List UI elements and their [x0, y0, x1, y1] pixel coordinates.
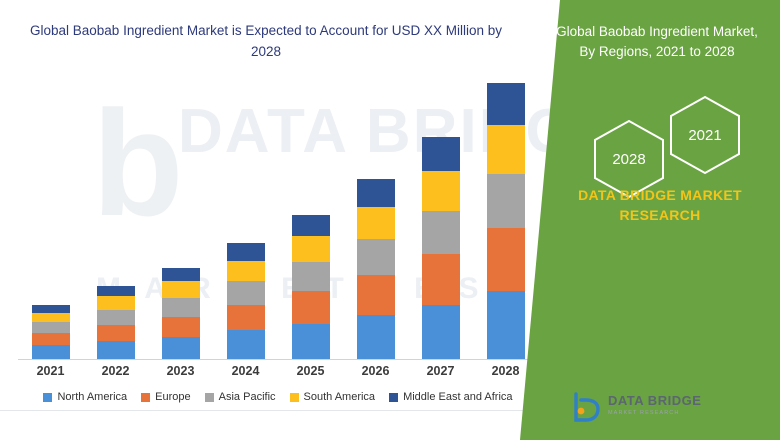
footer-logo: DATA BRIDGE MARKET RESEARCH [572, 392, 701, 422]
bar-segment [357, 315, 395, 359]
bar-column [148, 73, 213, 359]
hexagon-badges: 2021 2028 [575, 95, 765, 185]
bar-segment [32, 313, 70, 323]
bar-segment [227, 243, 265, 261]
stacked-bar [357, 179, 395, 359]
stacked-bar [487, 83, 525, 359]
hexagon-2021: 2021 [669, 95, 741, 175]
legend-item[interactable]: North America [43, 391, 127, 403]
bar-segment [97, 296, 135, 310]
legend-item[interactable]: Middle East and Africa [389, 391, 512, 403]
bar-segment [97, 325, 135, 341]
legend-item[interactable]: Europe [141, 391, 190, 403]
legend-swatch-icon [205, 393, 214, 402]
bar-segment [422, 171, 460, 210]
bar-segment [162, 317, 200, 337]
bar-segment [292, 324, 330, 359]
legend-swatch-icon [141, 393, 150, 402]
footer-logo-tagline: MARKET RESEARCH [608, 407, 701, 420]
bar-segment [227, 281, 265, 304]
footer-logo-name: DATA BRIDGE [608, 394, 701, 407]
bar-segment [32, 305, 70, 313]
bar-column [83, 73, 148, 359]
bar-segment [97, 310, 135, 325]
x-axis-labels: 20212022202320242025202620272028 [18, 364, 538, 378]
x-axis-tick-label: 2024 [213, 364, 278, 378]
bar-segment [227, 261, 265, 281]
bar-segment [32, 322, 70, 333]
legend-label: Asia Pacific [219, 391, 276, 403]
legend-label: Europe [155, 391, 190, 403]
legend-swatch-icon [290, 393, 299, 402]
x-axis-tick-label: 2022 [83, 364, 148, 378]
right-panel-title: Global Baobab Ingredient Market, By Regi… [548, 22, 766, 62]
bar-segment [162, 281, 200, 297]
footer-divider [0, 410, 540, 411]
bar-segment [97, 286, 135, 297]
bar-column [213, 73, 278, 359]
panel-brand-line2: RESEARCH [560, 205, 760, 225]
legend-swatch-icon [389, 393, 398, 402]
bridge-logo-icon [572, 392, 600, 422]
legend-label: North America [57, 391, 127, 403]
bar-segment [487, 174, 525, 228]
stacked-bar [292, 215, 330, 359]
bar-segment [487, 291, 525, 359]
bar-column [343, 73, 408, 359]
hexagon-2021-label: 2021 [688, 127, 721, 144]
x-axis-tick-label: 2027 [408, 364, 473, 378]
x-axis-tick-label: 2021 [18, 364, 83, 378]
bar-segment [162, 337, 200, 359]
x-axis-tick-label: 2026 [343, 364, 408, 378]
bar-segment [97, 341, 135, 359]
bar-segment [357, 239, 395, 274]
infographic-page: b DATA BRIDGE M A R K E T R E S E A R C … [0, 0, 780, 440]
bar-segment [292, 236, 330, 262]
chart-legend: North AmericaEuropeAsia PacificSouth Ame… [18, 388, 538, 406]
panel-brand-line1: DATA BRIDGE MARKET [560, 185, 760, 205]
legend-label: South America [304, 391, 376, 403]
bar-column [18, 73, 83, 359]
bar-segment [422, 211, 460, 255]
chart-title: Global Baobab Ingredient Market is Expec… [26, 20, 506, 62]
bar-segment [487, 83, 525, 125]
bar-segment [422, 305, 460, 359]
bar-segment [357, 179, 395, 206]
x-axis-tick-label: 2023 [148, 364, 213, 378]
stacked-bar [227, 243, 265, 359]
bar-segment [487, 125, 525, 174]
footer-logo-text: DATA BRIDGE MARKET RESEARCH [608, 394, 701, 420]
bar-segment [292, 215, 330, 237]
bar-segment [32, 345, 70, 359]
bar-column [278, 73, 343, 359]
bar-segment [162, 268, 200, 282]
bar-segment [292, 262, 330, 291]
chart-plot-area [18, 72, 538, 360]
legend-label: Middle East and Africa [403, 391, 512, 403]
bar-segment [227, 305, 265, 331]
bar-segment [227, 330, 265, 359]
hexagon-2028-label: 2028 [612, 151, 645, 168]
panel-brand: DATA BRIDGE MARKET RESEARCH [560, 185, 760, 225]
stacked-bar [97, 286, 135, 360]
x-axis-tick-label: 2025 [278, 364, 343, 378]
bar-segment [292, 291, 330, 324]
bar-segment [422, 137, 460, 171]
x-axis-line [18, 359, 538, 360]
bar-segment [422, 254, 460, 304]
bar-segment [32, 333, 70, 345]
stacked-bar [162, 268, 200, 359]
stacked-bar [422, 137, 460, 359]
bar-group [18, 73, 538, 359]
legend-item[interactable]: Asia Pacific [205, 391, 276, 403]
legend-item[interactable]: South America [290, 391, 376, 403]
legend-swatch-icon [43, 393, 52, 402]
bar-column [408, 73, 473, 359]
bar-column [473, 73, 538, 359]
stacked-bar [32, 305, 70, 359]
bar-segment [487, 228, 525, 291]
bar-segment [357, 275, 395, 316]
bar-segment [357, 207, 395, 240]
bar-segment [162, 298, 200, 317]
